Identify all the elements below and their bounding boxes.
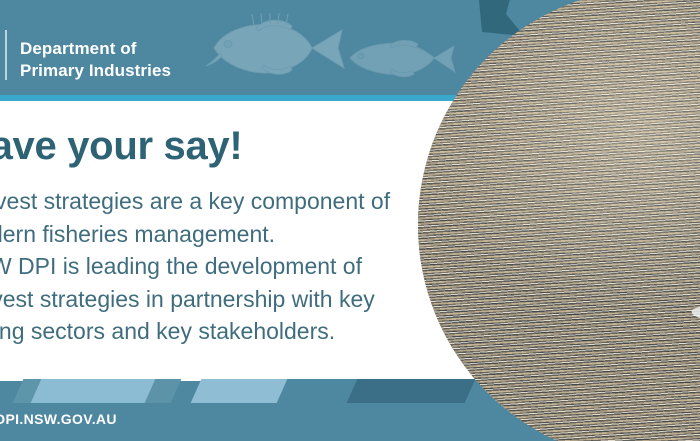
water-sun-glare: [418, 0, 700, 441]
body-paragraph: Harvest strategies are a key component o…: [0, 185, 390, 348]
department-logo-text: Department of Primary Industries: [20, 38, 171, 82]
motorboat-image: [686, 240, 700, 332]
boat-photo-circle: [418, 0, 700, 441]
footer-shape: [31, 379, 158, 403]
nsw-dpi-promotional-banner: Department of Primary Industries: [0, 0, 700, 441]
snapper-fish-illustration: [196, 10, 356, 82]
logo-divider-rule: [5, 30, 7, 80]
website-url[interactable]: DPI.NSW.GOV.AU: [0, 411, 117, 427]
page-title: Have your say!: [0, 124, 242, 169]
